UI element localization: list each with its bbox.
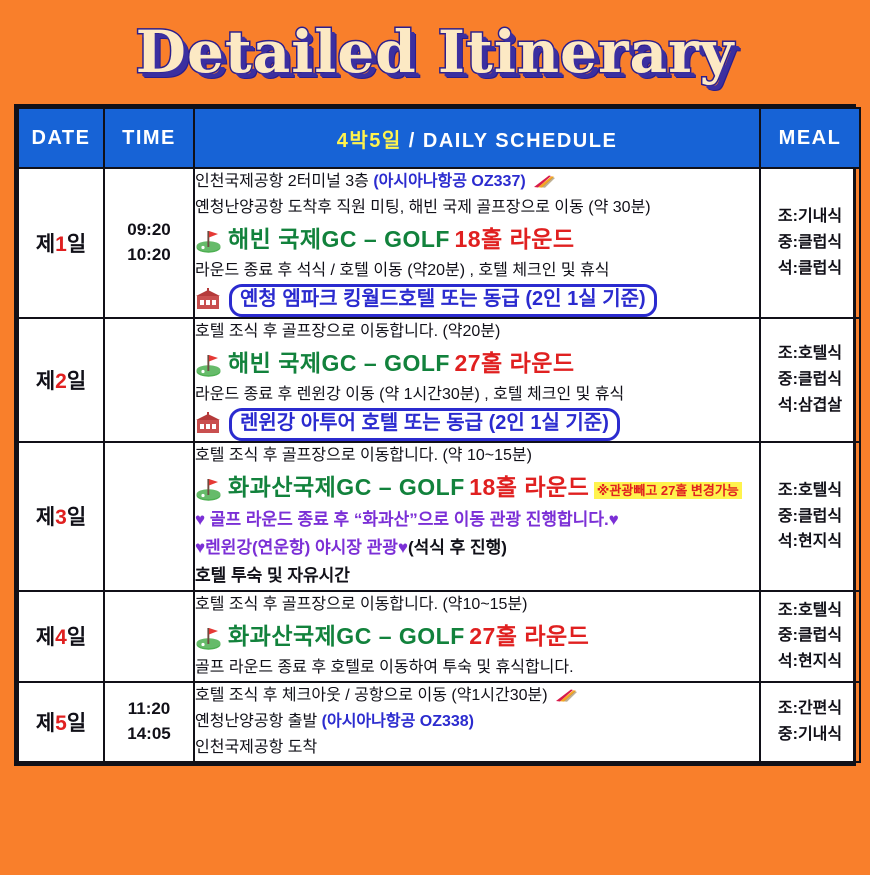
golf-course-2: 해빈 국제GC – GOLF [228,350,450,376]
day-prefix: 제 [36,370,55,393]
arrival-time: 10:20 [105,243,193,268]
hotel-building-icon [195,288,221,310]
table-row: 제2일 호텔 조식 후 골프장으로 이동합니다. (약20분) 해빈 국제GC [18,318,860,442]
meal-lunch-3: 중:클럽식 [761,504,859,530]
meal-breakfast-5: 조:간편식 [761,696,859,722]
day-label-2: 제2일 [18,318,104,442]
hotel-name-1: 옌청 엠파크 킹월드호텔 또는 동급 (2인 1실 기준) [229,284,657,317]
time-cell-5: 11:20 14:05 [104,682,194,762]
golf-flag-icon [195,352,222,377]
day-suffix: 일 [67,370,86,393]
meal-lunch-2: 중:클럽식 [761,367,859,393]
column-header-time: TIME [104,108,194,168]
golf-holes-3: 18홀 라운드 [469,474,589,500]
meal-lunch-5: 중:기내식 [761,722,859,748]
schedule-line-sightseeing-huaguoshan: ♥ 골프 라운드 종료 후 “화과산”으로 이동 관광 진행합니다.♥ [195,506,759,534]
meal-dinner-4: 석:현지식 [761,649,859,675]
time-cell-2 [104,318,194,442]
schedule-line-golf-1: 해빈 국제GC – GOLF 18홀 라운드 [195,221,759,258]
departure-airport-text: 인천국제공항 2터미널 3층 [195,173,373,190]
schedule-cell-1: 인천국제공항 2터미널 3층 (아시아나항공 OZ337) 옌청난양공항 도착후… [194,168,760,318]
schedule-line-hotel-1: 옌청 엠파크 킹월드호텔 또는 동급 (2인 1실 기준) [195,284,759,317]
day-label-4: 제4일 [18,591,104,682]
golf-flag-icon [195,476,222,501]
schedule-line-nightmarket: ♥렌윈강(연운항) 야시장 관광♥(석식 후 진행) [195,534,759,562]
column-header-date: DATE [18,108,104,168]
schedule-line-hotel-return-4: 골프 라운드 종료 후 호텔로 이동하여 투숙 및 휴식합니다. [195,655,759,681]
meal-cell-2: 조:호텔식 중:클럽식 석:삼겹살 [760,318,860,442]
time-cell-1: 09:20 10:20 [104,168,194,318]
column-header-meal: MEAL [760,108,860,168]
schedule-line-golf-2: 해빈 국제GC – GOLF 27홀 라운드 [195,345,759,382]
sightseeing-note-2: (석식 후 진행) [408,538,507,557]
meal-breakfast-2: 조:호텔식 [761,341,859,367]
schedule-line-golf-4: 화과산국제GC – GOLF 27홀 라운드 [195,618,759,655]
departure-airport-text-5: 옌청난양공항 출발 [195,713,322,730]
day-number: 5 [55,712,67,735]
asiana-airplane-icon [552,686,578,702]
schedule-cell-4: 호텔 조식 후 골프장으로 이동합니다. (약10~15분) 화과산국제GC –… [194,591,760,682]
day-number: 3 [55,506,67,529]
table-header-row: DATE TIME 4박5일 / DAILY SCHEDULE MEAL [18,108,860,168]
meal-cell-1: 조:기내식 중:클럽식 석:클럽식 [760,168,860,318]
meal-cell-3: 조:호텔식 중:클럽식 석:현지식 [760,442,860,591]
time-cell-4 [104,591,194,682]
meal-breakfast-3: 조:호텔식 [761,478,859,504]
flight-info-2: (아시아나항공 OZ338) [322,713,474,730]
departure-time: 09:20 [105,218,193,243]
day-suffix: 일 [67,506,86,529]
schedule-line-transfer-3: 호텔 조식 후 골프장으로 이동합니다. (약 10~15분) [195,443,759,469]
golf-holes-1: 18홀 라운드 [454,226,574,252]
meal-breakfast-4: 조:호텔식 [761,598,859,624]
column-header-schedule: 4박5일 / DAILY SCHEDULE [194,108,760,168]
day-prefix: 제 [36,233,55,256]
schedule-change-note: ※관광빼고 27홀 변경가능 [594,482,742,499]
checkout-text: 호텔 조식 후 체크아웃 / 공항으로 이동 (약1시간30분) [195,687,548,704]
schedule-cell-3: 호텔 조식 후 골프장으로 이동합니다. (약 10~15분) 화과산국제GC … [194,442,760,591]
meal-cell-4: 조:호텔식 중:클럽식 석:현지식 [760,591,860,682]
schedule-duration-label: 4박5일 [337,130,402,152]
table-row: 제5일 11:20 14:05 호텔 조식 후 체크아웃 / 공항으로 이동 (… [18,682,860,762]
time-cell-3 [104,442,194,591]
meal-dinner-1: 석:클럽식 [761,256,859,282]
meal-lunch-1: 중:클럽식 [761,230,859,256]
schedule-line-hotel-2: 렌윈강 아투어 호텔 또는 동급 (2인 1실 기준) [195,408,759,441]
itinerary-table-container: DATE TIME 4박5일 / DAILY SCHEDULE MEAL 제1일… [14,104,856,766]
departure-time-5: 11:20 [105,697,193,722]
schedule-cell-2: 호텔 조식 후 골프장으로 이동합니다. (약20분) 해빈 국제GC – GO… [194,318,760,442]
day-suffix: 일 [67,233,86,256]
hotel-name-2: 렌윈강 아투어 호텔 또는 동급 (2인 1실 기준) [229,408,620,441]
table-row: 제4일 호텔 조식 후 골프장으로 이동합니다. (약10~15분) 화과산국제 [18,591,860,682]
day-label-5: 제5일 [18,682,104,762]
itinerary-table: DATE TIME 4박5일 / DAILY SCHEDULE MEAL 제1일… [17,107,861,763]
meal-breakfast-1: 조:기내식 [761,204,859,230]
day-number: 4 [55,626,67,649]
hotel-building-icon [195,412,221,434]
golf-holes-4: 27홀 라운드 [469,623,589,649]
schedule-line-transfer-lianyungang: 라운드 종료 후 렌윈강 이동 (약 1시간30분) , 호텔 체크인 및 휴식 [195,382,759,408]
meal-cell-5: 조:간편식 중:기내식 [760,682,860,762]
table-row: 제1일 09:20 10:20 인천국제공항 2터미널 3층 (아시아나항공 O… [18,168,860,318]
schedule-cell-5: 호텔 조식 후 체크아웃 / 공항으로 이동 (약1시간30분) 옌청난양공항 … [194,682,760,762]
golf-holes-2: 27홀 라운드 [454,350,574,376]
day-suffix: 일 [67,626,86,649]
schedule-line-golf-3: 화과산국제GC – GOLF 18홀 라운드 ※관광빼고 27홀 변경가능 [195,469,759,506]
schedule-line-transfer-2: 호텔 조식 후 골프장으로 이동합니다. (약20분) [195,319,759,345]
day-prefix: 제 [36,626,55,649]
sightseeing-text-2: ♥렌윈강(연운항) 야시장 관광♥ [195,538,408,557]
day-label-1: 제1일 [18,168,104,318]
schedule-line-meeting: 옌청난양공항 도착후 직원 미팅, 해빈 국제 골프장으로 이동 (약 30분) [195,195,759,221]
day-suffix: 일 [67,712,86,735]
schedule-line-arrival-5: 인천국제공항 도착 [195,735,759,761]
meal-dinner-2: 석:삼겹살 [761,393,859,419]
page-title-banner: Detailed Itinerary [0,0,870,104]
sightseeing-text-1: ♥ 골프 라운드 종료 후 “화과산”으로 이동 관광 진행합니다.♥ [195,510,619,529]
golf-course-3: 화과산국제GC – GOLF [228,474,465,500]
schedule-line-dinner-1: 라운드 종료 후 석식 / 호텔 이동 (약20분) , 호텔 체크인 및 휴식 [195,258,759,284]
schedule-line-transfer-4: 호텔 조식 후 골프장으로 이동합니다. (약10~15분) [195,592,759,618]
schedule-line-freetime: 호텔 투숙 및 자유시간 [195,562,759,590]
day-label-3: 제3일 [18,442,104,591]
day-prefix: 제 [36,712,55,735]
golf-flag-icon [195,228,222,253]
schedule-line-departure-5: 옌청난양공항 출발 (아시아나항공 OZ338) [195,709,759,735]
meal-dinner-3: 석:현지식 [761,529,859,555]
day-prefix: 제 [36,506,55,529]
schedule-line-departure: 인천국제공항 2터미널 3층 (아시아나항공 OZ337) [195,169,759,195]
schedule-title-label: / DAILY SCHEDULE [402,130,618,152]
golf-flag-icon [195,625,222,650]
hotel-freetime-text: 호텔 투숙 및 자유시간 [195,566,350,585]
page-title: Detailed Itinerary [136,18,735,86]
golf-course-1: 해빈 국제GC – GOLF [228,226,450,252]
flight-info-1: (아시아나항공 OZ337) [373,173,525,190]
day-number: 1 [55,233,67,256]
golf-course-4: 화과산국제GC – GOLF [228,623,465,649]
asiana-airplane-icon [530,172,556,188]
meal-lunch-4: 중:클럽식 [761,623,859,649]
day-number: 2 [55,370,67,393]
table-row: 제3일 호텔 조식 후 골프장으로 이동합니다. (약 10~15분) 화과산국 [18,442,860,591]
arrival-time-5: 14:05 [105,722,193,747]
schedule-line-checkout-5: 호텔 조식 후 체크아웃 / 공항으로 이동 (약1시간30분) [195,683,759,709]
